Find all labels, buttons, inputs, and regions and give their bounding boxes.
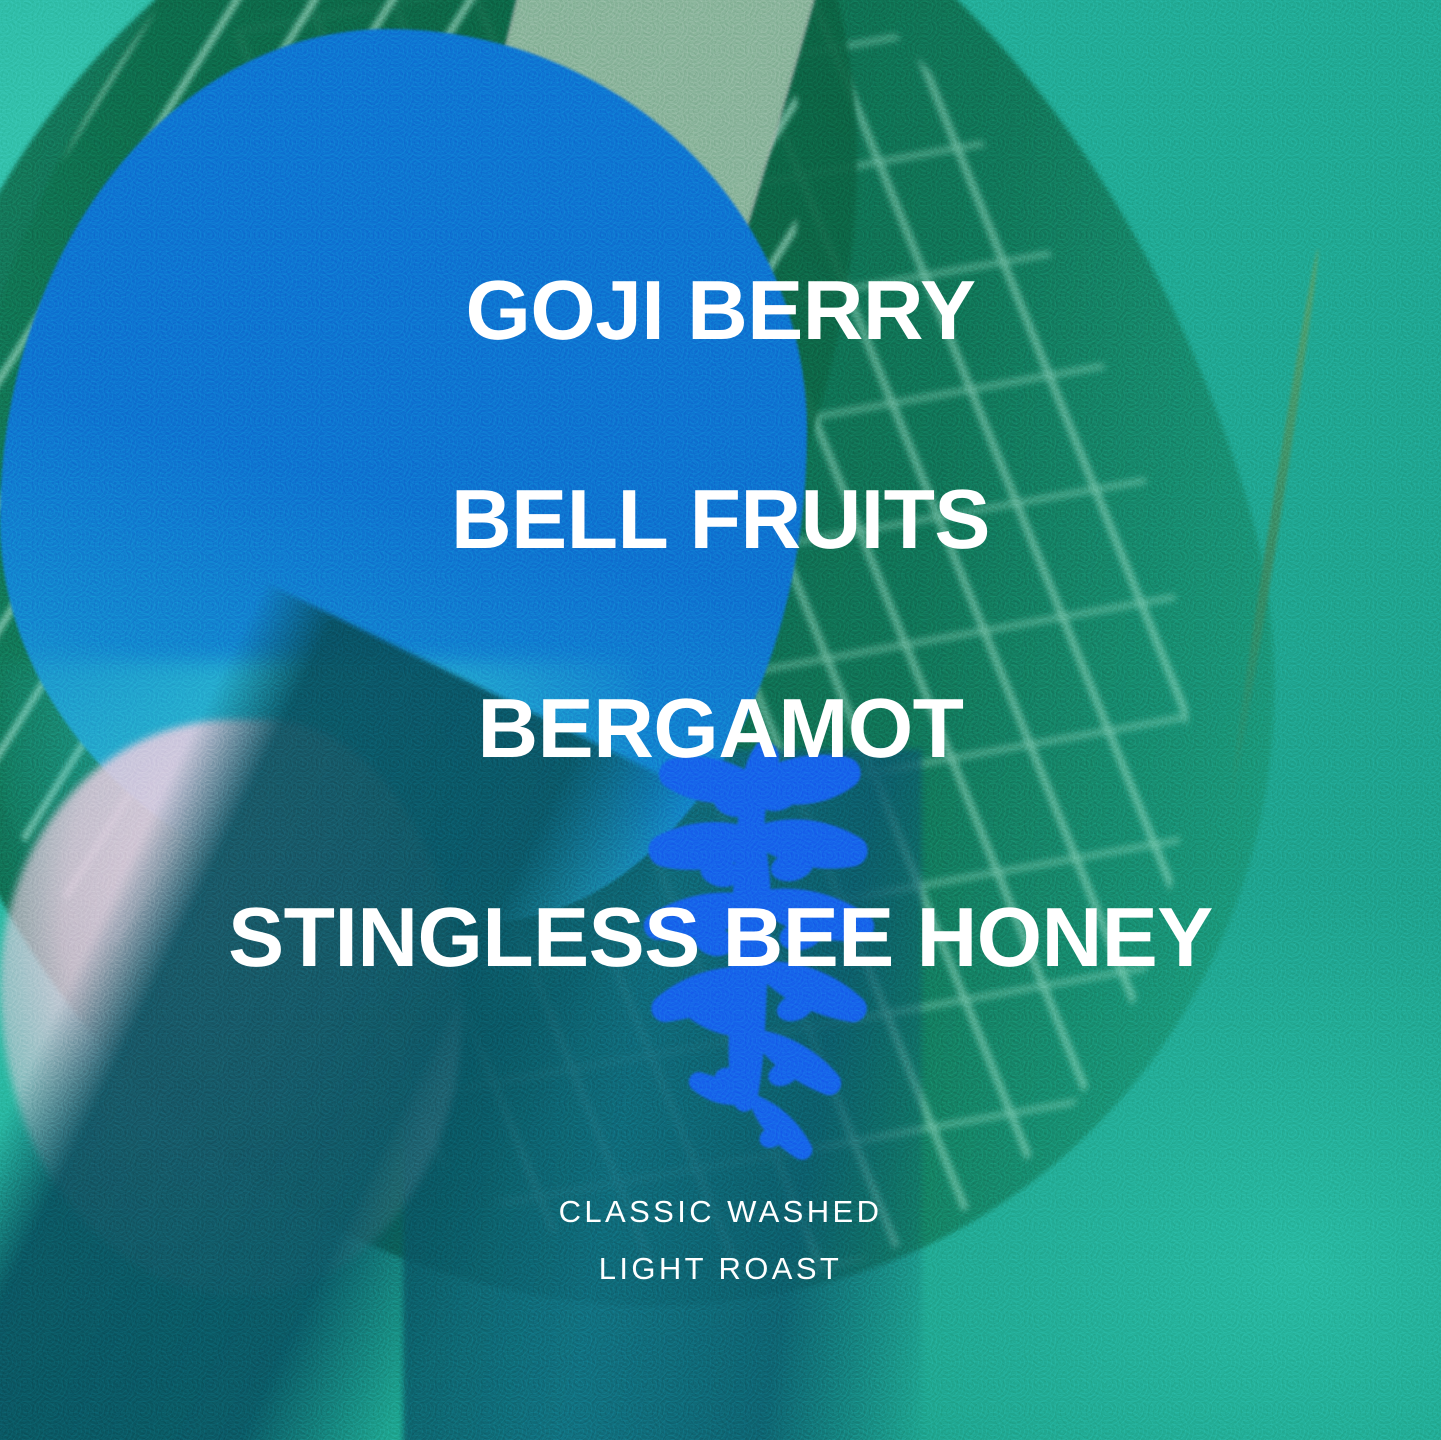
flavour-note-goji-berry: GOJI BERRY — [0, 268, 1441, 352]
flavour-note-bell-fruits: BELL FRUITS — [0, 477, 1441, 561]
coffee-flavour-label: GOJI BERRY BELL FRUITS BERGAMOT STINGLES… — [0, 0, 1441, 1440]
flavour-notes-list: GOJI BERRY BELL FRUITS BERGAMOT STINGLES… — [0, 268, 1441, 979]
process-line-classic-washed: CLASSIC WASHED — [0, 1196, 1441, 1227]
flavour-note-bergamot: BERGAMOT — [0, 686, 1441, 770]
flavour-note-stingless-bee-honey: STINGLESS BEE HONEY — [0, 895, 1441, 979]
process-caption: CLASSIC WASHED LIGHT ROAST — [0, 1196, 1441, 1284]
process-line-light-roast: LIGHT ROAST — [0, 1253, 1441, 1284]
